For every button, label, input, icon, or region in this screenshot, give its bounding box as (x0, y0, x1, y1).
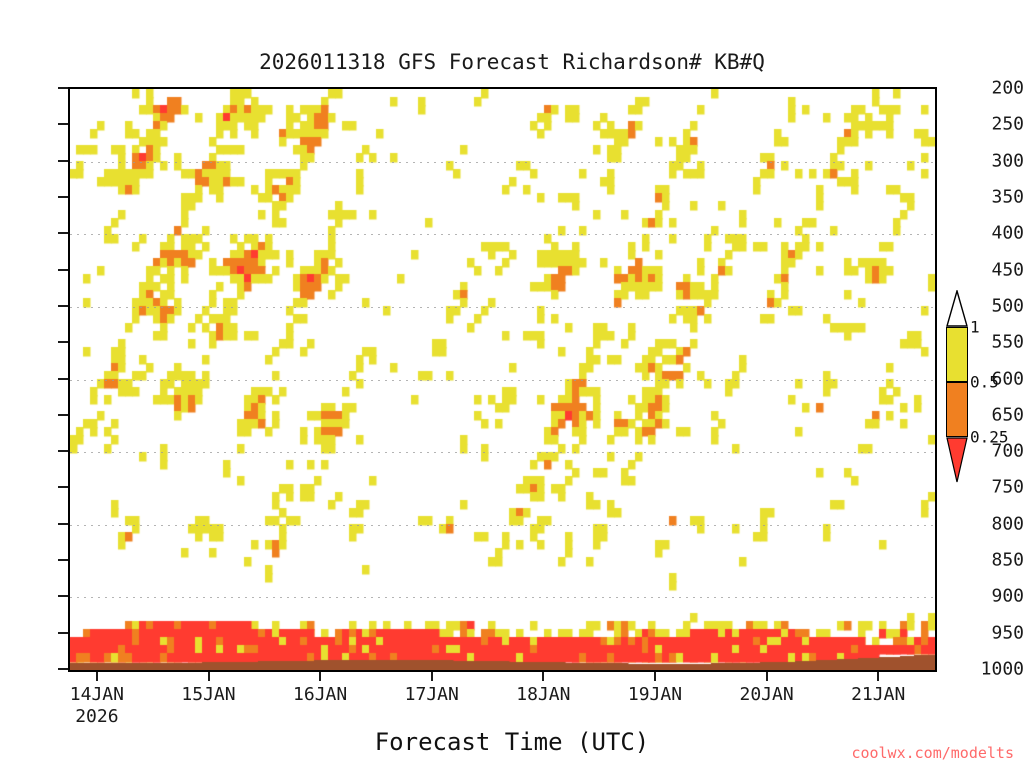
x-axis-label-16JAN: 16JAN (293, 684, 347, 705)
gridline-300 (70, 162, 935, 163)
y-axis-tick-1000 (58, 668, 68, 670)
y-axis-tick-700 (58, 450, 68, 452)
y-axis-tick-350 (58, 196, 68, 198)
y-axis-tick-900 (58, 595, 68, 597)
x-axis-label-17JAN: 17JAN (405, 684, 459, 705)
y-axis-label-200: 200 (970, 78, 1024, 99)
y-axis-label-850: 850 (970, 550, 1024, 571)
colorbar: 10.50.25 (946, 327, 968, 437)
chart-canvas: 2026011318 GFS Forecast Richardson# KB#Q… (0, 0, 1024, 768)
x-axis-label-20JAN: 20JAN (739, 684, 793, 705)
gridline-900 (70, 597, 935, 598)
x-axis-tick-20JAN (766, 672, 768, 681)
y-axis-tick-250 (58, 123, 68, 125)
y-axis-tick-300 (58, 160, 68, 162)
y-axis-tick-450 (58, 269, 68, 271)
y-axis-label-900: 900 (970, 586, 1024, 607)
y-axis-tick-750 (58, 486, 68, 488)
x-axis-tick-17JAN (431, 672, 433, 681)
gridline-400 (70, 234, 935, 235)
x-axis-tick-14JAN (96, 672, 98, 681)
plot-area (68, 87, 937, 672)
colorbar-under-arrow (946, 437, 968, 483)
x-axis-label-19JAN: 19JAN (628, 684, 682, 705)
x-axis-label-14JAN: 14JAN (70, 684, 124, 705)
y-axis-label-1000: 1000 (970, 659, 1024, 680)
colorbar-label-0-25: 0.25 (970, 428, 1009, 447)
gridline-800 (70, 525, 935, 526)
y-axis-tick-800 (58, 523, 68, 525)
x-axis-tick-21JAN (877, 672, 879, 681)
y-axis-label-350: 350 (970, 186, 1024, 207)
y-axis-tick-600 (58, 378, 68, 380)
colorbar-label-1: 1 (970, 318, 980, 337)
x-axis-label-15JAN: 15JAN (181, 684, 235, 705)
colorbar-over-arrow-outline (946, 290, 968, 327)
colorbar-segment-orange (946, 382, 968, 437)
gridline-500 (70, 307, 935, 308)
gridlines (70, 89, 935, 670)
y-axis-tick-550 (58, 341, 68, 343)
x-axis-tick-19JAN (654, 672, 656, 681)
y-axis-label-400: 400 (970, 223, 1024, 244)
gridline-700 (70, 452, 935, 453)
y-axis-tick-200 (58, 87, 68, 89)
y-axis-tick-650 (58, 414, 68, 416)
y-axis-tick-950 (58, 632, 68, 634)
y-axis-label-950: 950 (970, 622, 1024, 643)
colorbar-label-0-5: 0.5 (970, 373, 999, 392)
x-axis-tick-15JAN (208, 672, 210, 681)
gridline-1000 (70, 670, 935, 671)
x-axis-label-18JAN: 18JAN (516, 684, 570, 705)
y-axis-label-750: 750 (970, 477, 1024, 498)
y-axis-label-500: 500 (970, 295, 1024, 316)
x-axis-label-21JAN: 21JAN (851, 684, 905, 705)
page-title: 2026011318 GFS Forecast Richardson# KB#Q (0, 50, 1024, 74)
y-axis-label-650: 650 (970, 404, 1024, 425)
x-axis-tick-16JAN (319, 672, 321, 681)
y-axis-label-250: 250 (970, 114, 1024, 135)
x-axis-tick-18JAN (542, 672, 544, 681)
y-axis (0, 0, 56, 768)
y-axis-label-300: 300 (970, 150, 1024, 171)
y-axis-tick-400 (58, 232, 68, 234)
y-axis-tick-850 (58, 559, 68, 561)
gridline-600 (70, 380, 935, 381)
y-axis-tick-500 (58, 305, 68, 307)
watermark: coolwx.com/modelts (851, 744, 1014, 762)
x-axis-sublabel-year: 2026 (75, 706, 118, 727)
y-axis-label-800: 800 (970, 513, 1024, 534)
y-axis-label-450: 450 (970, 259, 1024, 280)
colorbar-segment-yellow (946, 327, 968, 382)
